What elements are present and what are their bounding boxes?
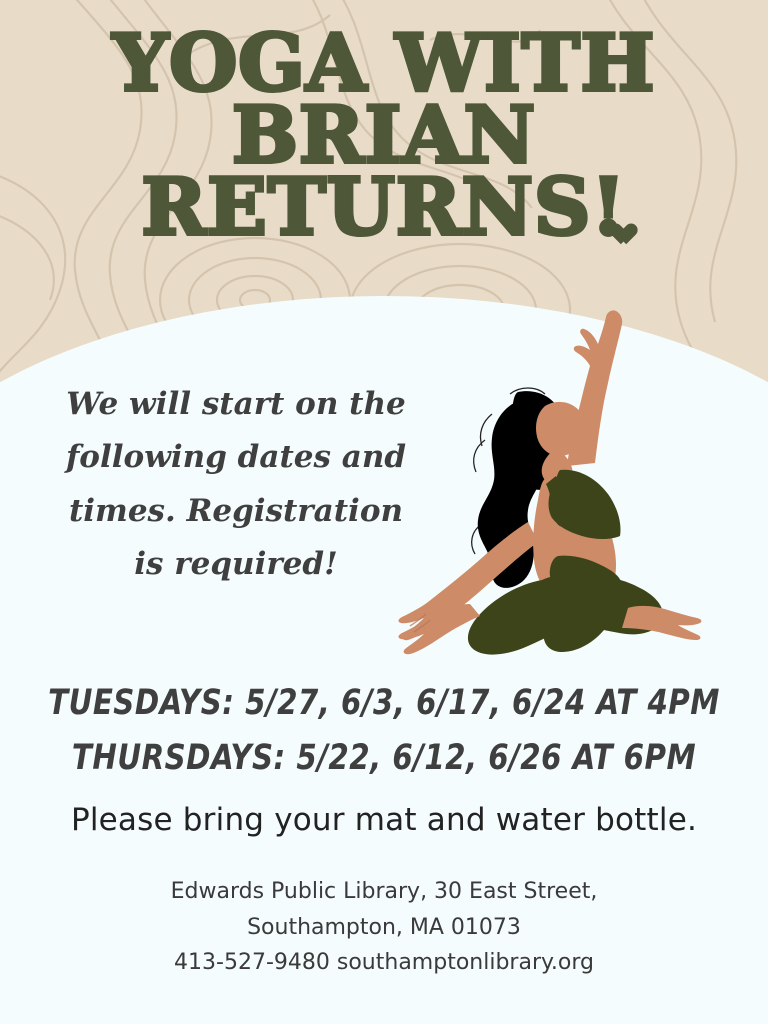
footer-phone-website[interactable]: 413-527-9480 southamptonlibrary.org: [0, 945, 768, 981]
footer-address-line-1: Edwards Public Library, 30 East Street,: [0, 874, 768, 910]
title-line-3: RETURNS!: [141, 162, 626, 253]
schedule-block: TUESDAYS: 5/27, 6/3, 6/17, 6/24 AT 4PM T…: [0, 676, 768, 787]
schedule-line-tuesdays: TUESDAYS: 5/27, 6/3, 6/17, 6/24 AT 4PM: [27, 676, 741, 731]
poster-canvas: YOGA WITH BRIAN RETURNS! We will start o…: [0, 0, 768, 1024]
bring-note: Please bring your mat and water bottle.: [0, 802, 768, 838]
schedule-line-thursdays: THURSDAYS: 5/22, 6/12, 6/26 AT 6PM: [27, 731, 741, 786]
title-line-1: YOGA WITH: [0, 28, 768, 100]
intro-paragraph: We will start on the following dates and…: [56, 378, 416, 591]
footer-contact-block: Edwards Public Library, 30 East Street, …: [0, 874, 768, 981]
title-line-3-wrapper: RETURNS!: [141, 172, 626, 244]
yoga-woman-illustration: [370, 288, 715, 663]
poster-title: YOGA WITH BRIAN RETURNS!: [0, 28, 768, 243]
footer-address-line-2: Southampton, MA 01073: [0, 910, 768, 946]
